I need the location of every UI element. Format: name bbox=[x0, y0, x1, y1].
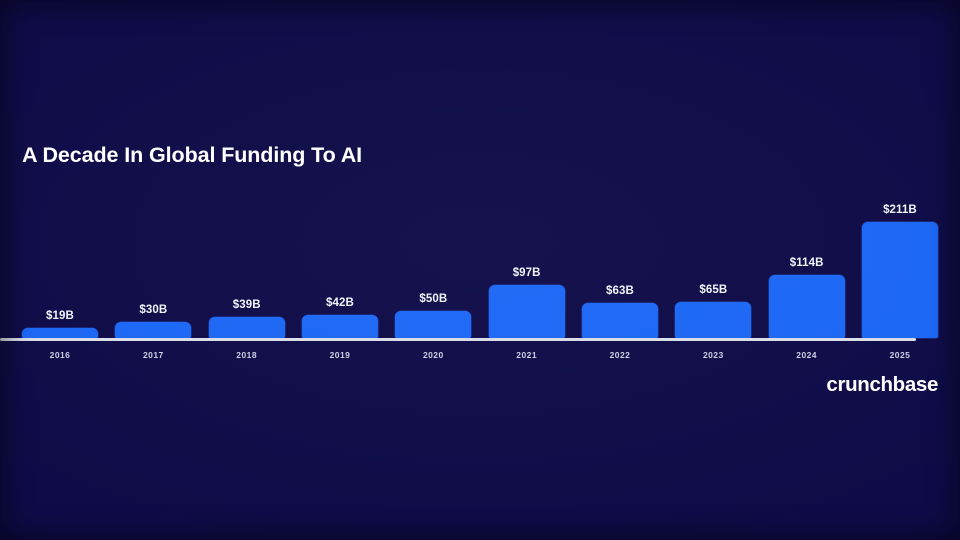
bar-value-label: $63B bbox=[606, 285, 634, 297]
bar-value-label: $30B bbox=[139, 304, 167, 316]
x-axis-tick-label: 2020 bbox=[423, 350, 444, 360]
bar-rect[interactable] bbox=[489, 285, 565, 338]
x-axis-tick: 2016 bbox=[22, 345, 98, 363]
bar-value-label: $211B bbox=[883, 204, 917, 216]
x-axis-tick-label: 2016 bbox=[50, 350, 71, 360]
bar-group: $42B bbox=[302, 190, 378, 338]
bar-group: $63B bbox=[582, 190, 658, 338]
x-axis-tick-label: 2017 bbox=[143, 350, 164, 360]
bar-group: $19B bbox=[22, 190, 98, 338]
x-axis-tick: 2017 bbox=[115, 345, 191, 363]
bar-value-label: $19B bbox=[46, 310, 74, 322]
x-axis-tick: 2022 bbox=[582, 345, 658, 363]
x-axis-tick-label: 2018 bbox=[236, 350, 257, 360]
bar-group: $97B bbox=[489, 190, 565, 338]
x-axis-tick: 2018 bbox=[209, 345, 285, 363]
bar-rect[interactable] bbox=[115, 322, 191, 339]
bar-group: $65B bbox=[675, 190, 751, 338]
bar-rect[interactable] bbox=[769, 275, 845, 338]
bar-value-label: $42B bbox=[326, 297, 354, 309]
bar-rect[interactable] bbox=[302, 315, 378, 338]
bar-group: $114B bbox=[769, 190, 845, 338]
bar-group: $211B bbox=[862, 190, 938, 338]
bar-rect[interactable] bbox=[22, 328, 98, 338]
x-axis-tick: 2023 bbox=[675, 345, 751, 363]
chart-slide: A Decade In Global Funding To AI $19B$30… bbox=[0, 0, 960, 540]
bar-value-label: $50B bbox=[419, 293, 447, 305]
chart-plot-area: $19B$30B$39B$42B$50B$97B$63B$65B$114B$21… bbox=[22, 190, 938, 338]
bar-rect[interactable] bbox=[862, 222, 938, 338]
bar-value-label: $97B bbox=[513, 267, 541, 279]
x-axis-tick: 2020 bbox=[395, 345, 471, 363]
x-axis-tick: 2025 bbox=[862, 345, 938, 363]
bar-series: $19B$30B$39B$42B$50B$97B$63B$65B$114B$21… bbox=[22, 190, 938, 338]
x-axis-tick-label: 2023 bbox=[703, 350, 724, 360]
x-axis-tick-label: 2025 bbox=[890, 350, 911, 360]
x-axis-tick-label: 2019 bbox=[330, 350, 351, 360]
x-axis-tick-label: 2021 bbox=[516, 350, 537, 360]
bar-rect[interactable] bbox=[582, 303, 658, 338]
bar-group: $50B bbox=[395, 190, 471, 338]
bar-group: $30B bbox=[115, 190, 191, 338]
bar-value-label: $65B bbox=[699, 284, 727, 296]
page-title: A Decade In Global Funding To AI bbox=[22, 143, 362, 168]
x-axis-tick-label: 2024 bbox=[796, 350, 817, 360]
x-axis-tick: 2024 bbox=[769, 345, 845, 363]
axis-baseline bbox=[0, 338, 916, 341]
bar-rect[interactable] bbox=[209, 317, 285, 338]
x-axis-tick-label: 2022 bbox=[610, 350, 631, 360]
x-axis-tick: 2021 bbox=[489, 345, 565, 363]
bar-value-label: $39B bbox=[233, 299, 261, 311]
bar-group: $39B bbox=[209, 190, 285, 338]
bar-value-label: $114B bbox=[790, 257, 824, 269]
bar-rect[interactable] bbox=[395, 311, 471, 339]
x-axis-tick-labels: 2016201720182019202020212022202320242025 bbox=[22, 345, 938, 363]
bar-rect[interactable] bbox=[675, 302, 751, 338]
crunchbase-logo: crunchbase bbox=[826, 373, 938, 397]
x-axis-tick: 2019 bbox=[302, 345, 378, 363]
